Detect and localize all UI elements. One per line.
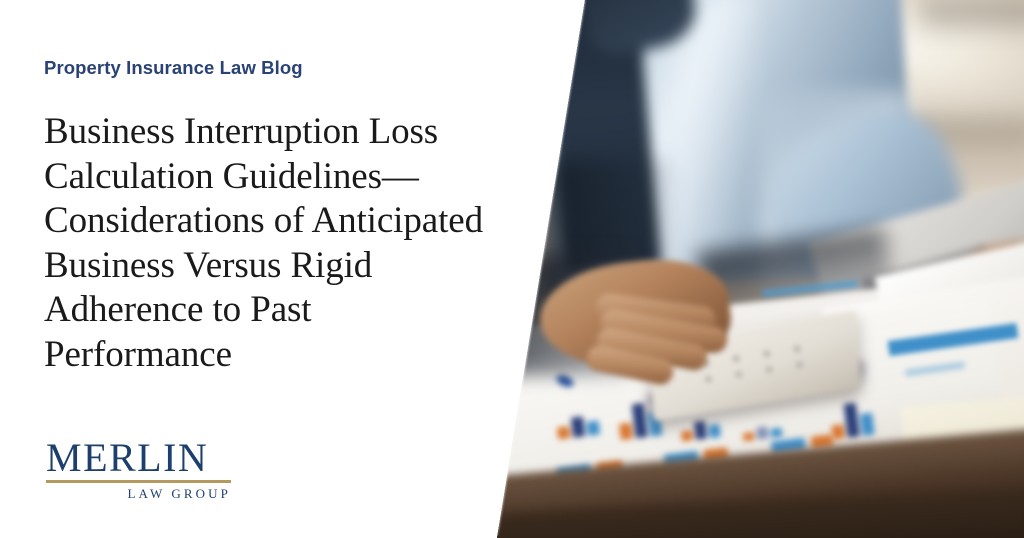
blog-featured-image-banner: Property Insurance Law Blog Business Int…	[0, 0, 1024, 538]
page-title: Business Interruption Loss Calculation G…	[44, 110, 484, 377]
background-top-shadow	[920, 0, 1024, 40]
logo-wordmark: MERLIN	[46, 437, 231, 479]
logo-divider-rule	[46, 480, 231, 483]
logo-subtitle: LAW GROUP	[46, 486, 231, 502]
report-bar-chart-1	[554, 396, 618, 439]
merlin-law-group-logo: MERLIN LAW GROUP	[46, 437, 231, 502]
text-panel: Property Insurance Law Blog Business Int…	[0, 0, 500, 538]
blog-category-label: Property Insurance Law Blog	[44, 57, 303, 79]
